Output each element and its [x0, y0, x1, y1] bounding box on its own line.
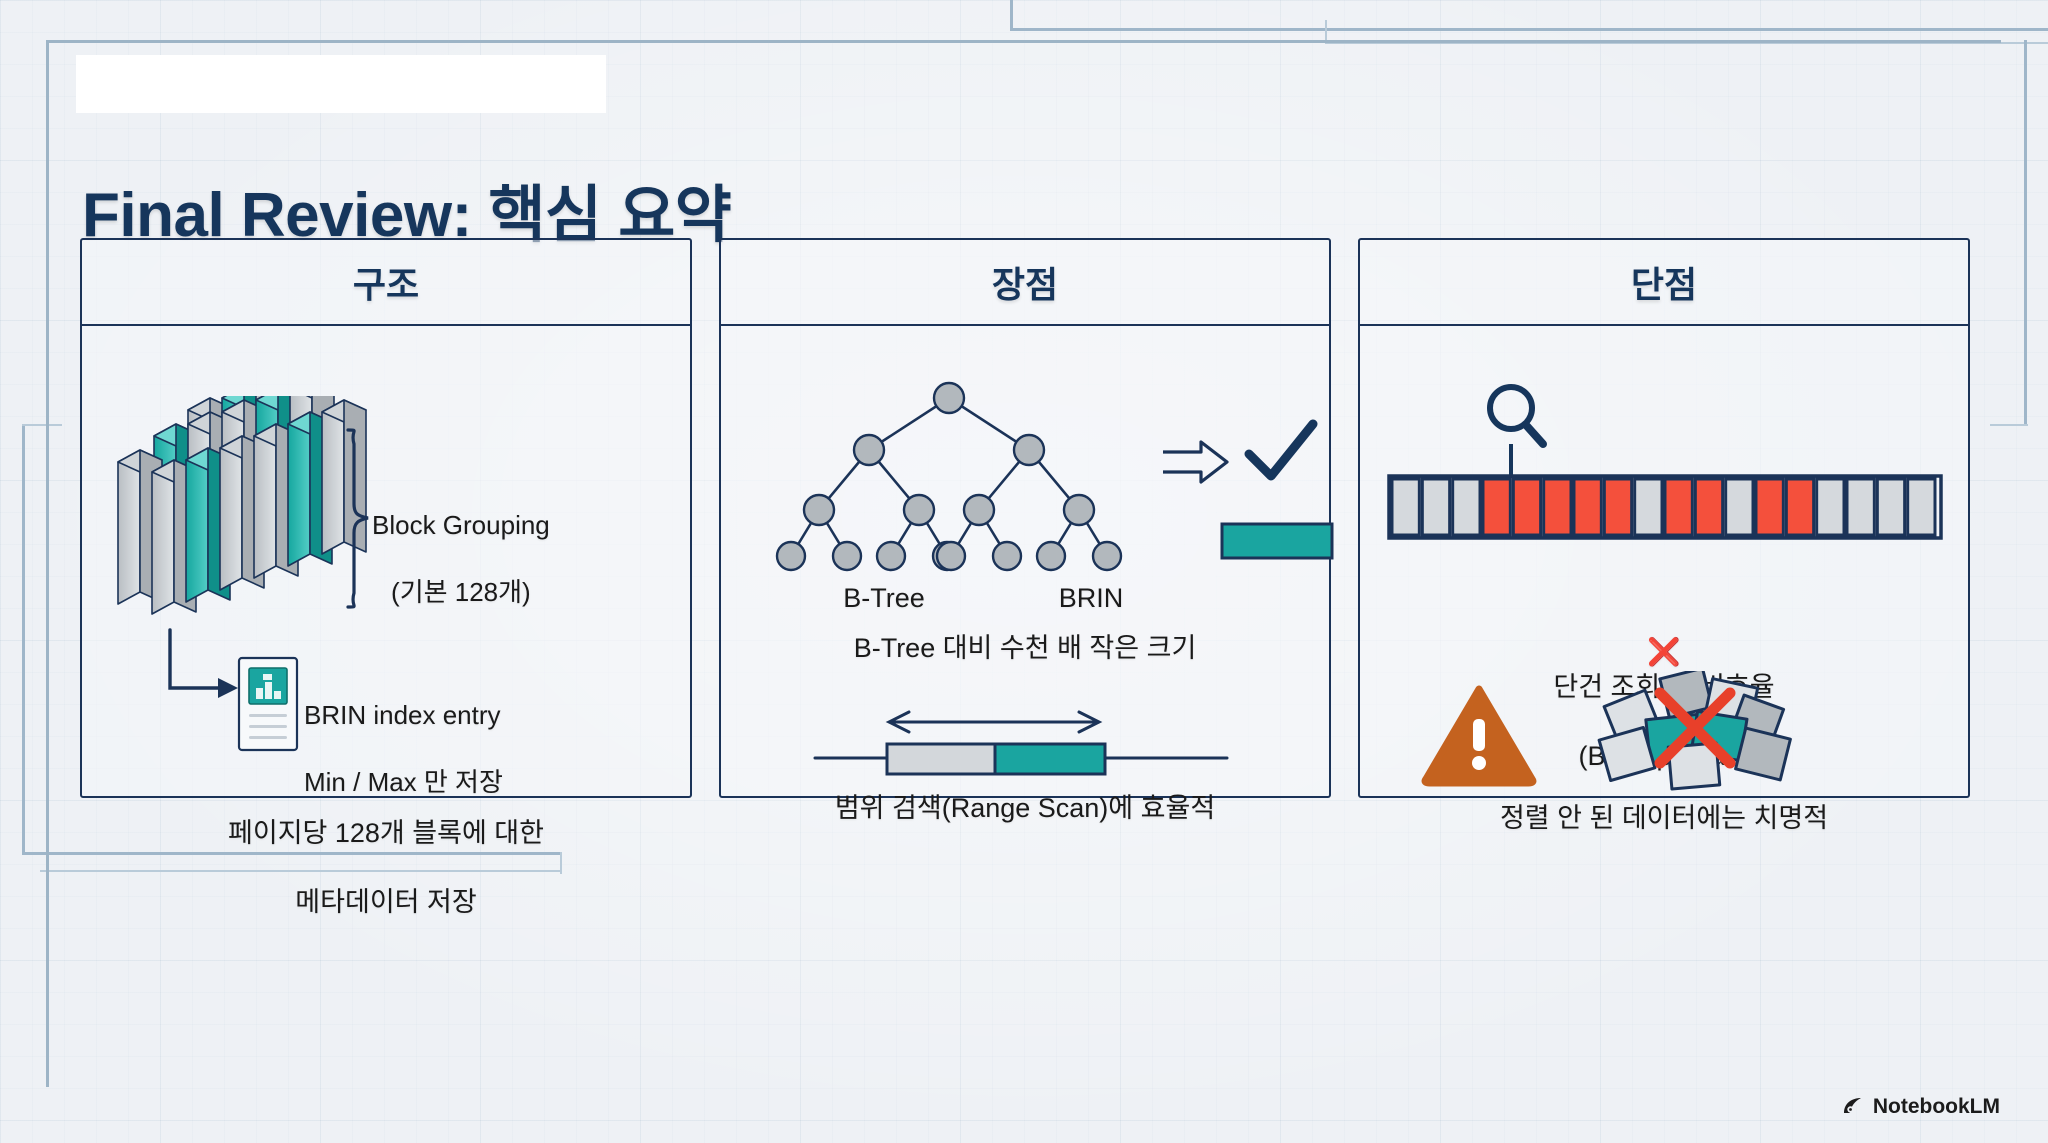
panel-advantages-body: B-Tree BRIN B-Tree 대비 수천 배 작은 크기 범위 검색(R… — [721, 326, 1329, 796]
panel-structure-header: 구조 — [82, 240, 690, 326]
bitmap-cell — [1817, 479, 1844, 535]
double-arrow-right-icon — [1161, 438, 1231, 490]
bitmap-cell — [1604, 479, 1631, 535]
panel-disadvantages-body: ❌ 단건 조회 시 비효율 (Bitmap Scan) — [1360, 326, 1968, 796]
bitmap-cell — [1877, 479, 1904, 535]
red-x-icon: ❌ — [1647, 637, 1681, 667]
panel-disadvantages-footer: 정렬 안 된 데이터에는 치명적 — [1360, 801, 1968, 836]
bitmap-cell — [1513, 479, 1540, 535]
panel-disadvantages-header: 단점 — [1360, 240, 1968, 326]
panel-structure-footer: 페이지당 128개 블록에 대한 메타데이터 저장 — [82, 781, 690, 954]
warning-triangle-icon — [1420, 683, 1538, 787]
block-grouping-label-line2: (기본 128개) — [372, 576, 550, 609]
bitmap-cell — [1726, 479, 1753, 535]
brin-entry-label-line1: BRIN index entry — [304, 699, 503, 732]
bitmap-cell — [1422, 479, 1449, 535]
bitmap-cell — [1392, 479, 1419, 535]
brand-notebooklm: NotebookLM — [1841, 1095, 2000, 1119]
deco-line-top-right-v — [1010, 0, 1013, 31]
bitmap-strip-icon — [1385, 378, 1945, 563]
panel-structure-body: Block Grouping (기본 128개) B — [82, 326, 690, 796]
magnifier-icon — [1490, 387, 1543, 444]
redacted-white-bar — [76, 55, 606, 113]
panel-advantages-footer: 범위 검색(Range Scan)에 효율적 — [721, 791, 1329, 826]
panel-structure-title: 구조 — [353, 256, 419, 308]
panel-row: 구조 — [80, 238, 1970, 798]
bitmap-cell — [1453, 479, 1480, 535]
panel-structure-footer-line2: 메타데이터 저장 — [82, 885, 690, 920]
brin-label: BRIN — [1021, 581, 1161, 616]
deco-line-top-right-h — [1010, 28, 2048, 31]
deco-line-left-v — [22, 424, 25, 854]
scattered-cards-icon — [1596, 671, 1796, 799]
bitmap-cell — [1695, 479, 1722, 535]
size-compare-text: B-Tree 대비 수천 배 작은 크기 — [721, 631, 1329, 666]
panel-disadvantages: 단점 ❌ 단건 조회 시 비효율 (Bitmap Scan — [1358, 238, 1970, 798]
bitmap-cell — [1847, 479, 1874, 535]
teal-bar-icon — [1219, 521, 1335, 561]
check-mark-icon — [1241, 418, 1321, 490]
warning-and-scatter-group — [1420, 671, 1796, 799]
document-chart-icon — [237, 656, 299, 752]
deco-line-right-v — [2024, 40, 2027, 424]
bitmap-cell — [1574, 479, 1601, 535]
range-scan-icon — [811, 706, 1231, 786]
block-grouping-label-line1: Block Grouping — [372, 509, 550, 542]
bitmap-cell — [1756, 479, 1783, 535]
panel-structure-footer-line1: 페이지당 128개 블록에 대한 — [82, 816, 690, 851]
panel-advantages: 장점 — [719, 238, 1331, 798]
brand-label: NotebookLM — [1873, 1095, 2000, 1119]
bitmap-cell — [1544, 479, 1571, 535]
notebooklm-spiral-icon — [1841, 1095, 1865, 1119]
panel-disadvantages-title: 단점 — [1631, 256, 1697, 308]
bitmap-cell — [1635, 479, 1662, 535]
bitmap-cell — [1665, 479, 1692, 535]
block-grouping-label: Block Grouping (기본 128개) — [372, 476, 550, 642]
panel-structure: 구조 — [80, 238, 692, 798]
bitmap-cell — [1908, 479, 1935, 535]
b-tree-label: B-Tree — [779, 581, 989, 616]
bitmap-cell — [1786, 479, 1813, 535]
b-tree-icon — [729, 376, 1169, 576]
elbow-arrow-icon — [160, 626, 248, 726]
panel-advantages-header: 장점 — [721, 240, 1329, 326]
panel-advantages-title: 장점 — [992, 256, 1058, 308]
bitmap-cell — [1483, 479, 1510, 535]
